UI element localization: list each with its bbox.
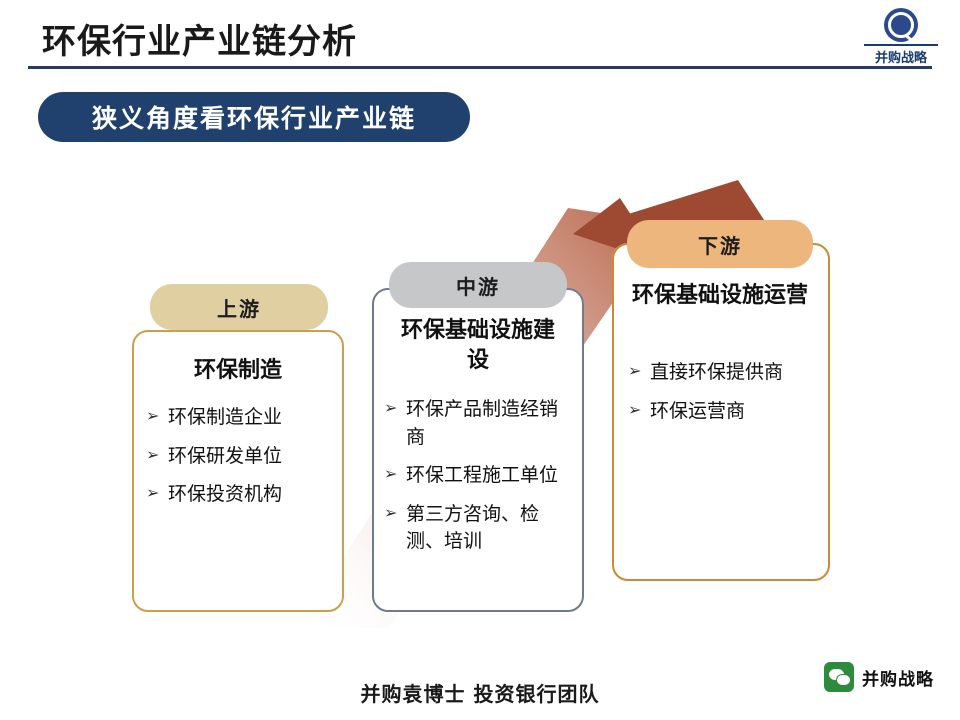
stage-card-midstream: 环保基础设施建设 ➢ 环保产品制造经销商 ➢ 环保工程施工单位 ➢ 第三方咨询、… [372, 288, 584, 612]
title-divider [28, 66, 932, 69]
list-item-label: 环保制造企业 [168, 404, 332, 432]
wechat-label: 并购战略 [862, 665, 934, 690]
stage-pill-upstream: 上游 [150, 284, 328, 330]
list-item: ➢ 第三方咨询、检测、培训 [384, 501, 576, 556]
stage-title-midstream: 环保基础设施建设 [372, 316, 584, 375]
stage-pill-downstream: 下游 [627, 220, 813, 268]
bullet-marker-icon: ➢ [384, 501, 406, 524]
brand-logo: 并购战略 [864, 8, 938, 66]
wechat-badge: 并购战略 [824, 662, 934, 692]
section-banner-label: 狭义角度看环保行业产业链 [92, 99, 416, 135]
list-item: ➢ 环保产品制造经销商 [384, 396, 576, 451]
list-item: ➢ 环保工程施工单位 [384, 462, 576, 490]
stage-card-upstream: 环保制造 ➢ 环保制造企业 ➢ 环保研发单位 ➢ 环保投资机构 [132, 330, 344, 612]
list-item-label: 直接环保提供商 [650, 359, 820, 387]
list-item-label: 环保工程施工单位 [406, 462, 576, 490]
section-banner: 狭义角度看环保行业产业链 [38, 92, 470, 142]
bullet-marker-icon: ➢ [384, 396, 406, 419]
eye-magnifier-icon [884, 8, 918, 42]
list-item: ➢ 环保研发单位 [146, 443, 332, 471]
list-item-label: 环保投资机构 [168, 481, 332, 509]
stage-pill-midstream-label: 中游 [456, 271, 500, 300]
bullet-marker-icon: ➢ [146, 443, 168, 466]
list-item: ➢ 环保运营商 [628, 398, 820, 426]
bullet-marker-icon: ➢ [628, 359, 650, 382]
bullet-marker-icon: ➢ [146, 404, 168, 427]
list-item-label: 环保研发单位 [168, 443, 332, 471]
wechat-icon [824, 662, 854, 692]
stage-pill-midstream: 中游 [389, 262, 567, 308]
list-item: ➢ 环保投资机构 [146, 481, 332, 509]
list-item: ➢ 环保制造企业 [146, 404, 332, 432]
list-item-label: 第三方咨询、检测、培训 [406, 501, 576, 556]
list-item-label: 环保产品制造经销商 [406, 396, 576, 451]
list-item: ➢ 直接环保提供商 [628, 359, 820, 387]
stage-title-upstream: 环保制造 [132, 356, 344, 386]
stage-pill-upstream-label: 上游 [217, 293, 261, 322]
bullet-marker-icon: ➢ [146, 481, 168, 504]
stage-title-downstream: 环保基础设施运营 [612, 281, 830, 311]
logo-label: 并购战略 [864, 44, 938, 66]
footer-credit: 并购袁博士 投资银行团队 [0, 678, 960, 707]
bullet-marker-icon: ➢ [384, 462, 406, 485]
bullet-marker-icon: ➢ [628, 398, 650, 421]
stage-pill-downstream-label: 下游 [698, 230, 742, 259]
page-title: 环保行业产业链分析 [42, 14, 357, 63]
stage-card-downstream: 环保基础设施运营 ➢ 直接环保提供商 ➢ 环保运营商 [612, 243, 830, 581]
list-item-label: 环保运营商 [650, 398, 820, 426]
